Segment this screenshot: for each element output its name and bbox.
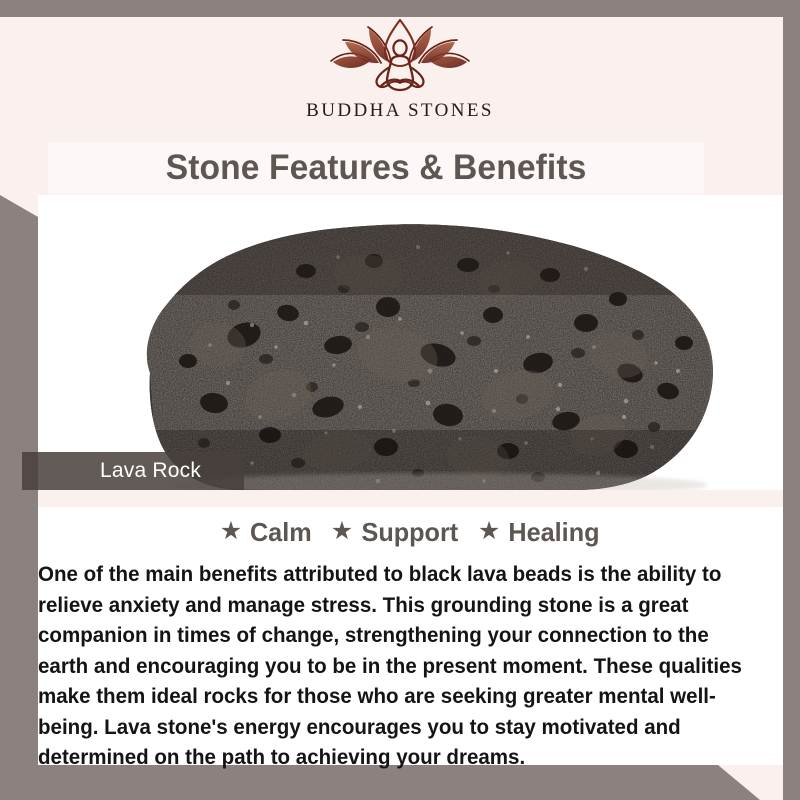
benefit-item-healing: ★ Healing	[478, 517, 601, 548]
star-icon: ★	[220, 519, 242, 544]
stone-label-bar: Lava Rock	[22, 452, 244, 490]
benefit-label: Healing	[509, 517, 600, 548]
benefits-row: ★ Calm ★ Support ★ Healing	[38, 517, 783, 548]
benefit-item-support: ★ Support	[331, 517, 460, 548]
benefit-item-calm: ★ Calm	[220, 517, 313, 548]
frame-left-band	[0, 195, 38, 800]
star-icon: ★	[331, 519, 353, 544]
benefit-label: Support	[362, 517, 459, 548]
brand-logo: BUDDHA STONES	[0, 18, 800, 138]
stone-label-text: Lava Rock	[100, 459, 201, 483]
photo-panel	[38, 195, 783, 490]
frame-top-band	[0, 0, 800, 17]
star-icon: ★	[478, 519, 500, 544]
content-panel: ★ Calm ★ Support ★ Healing One of the ma…	[38, 507, 783, 765]
page-title: Stone Features & Benefits	[166, 148, 587, 188]
benefit-label: Calm	[250, 517, 312, 548]
lotus-meditation-icon	[325, 18, 475, 96]
title-banner: Stone Features & Benefits	[48, 142, 704, 194]
description-paragraph: One of the main benefits attributed to b…	[38, 559, 752, 773]
brand-wordmark: BUDDHA STONES	[306, 100, 494, 122]
lava-rock-photo	[38, 195, 783, 490]
infographic-card: BUDDHA STONES Stone Features & Benefits	[0, 0, 800, 800]
